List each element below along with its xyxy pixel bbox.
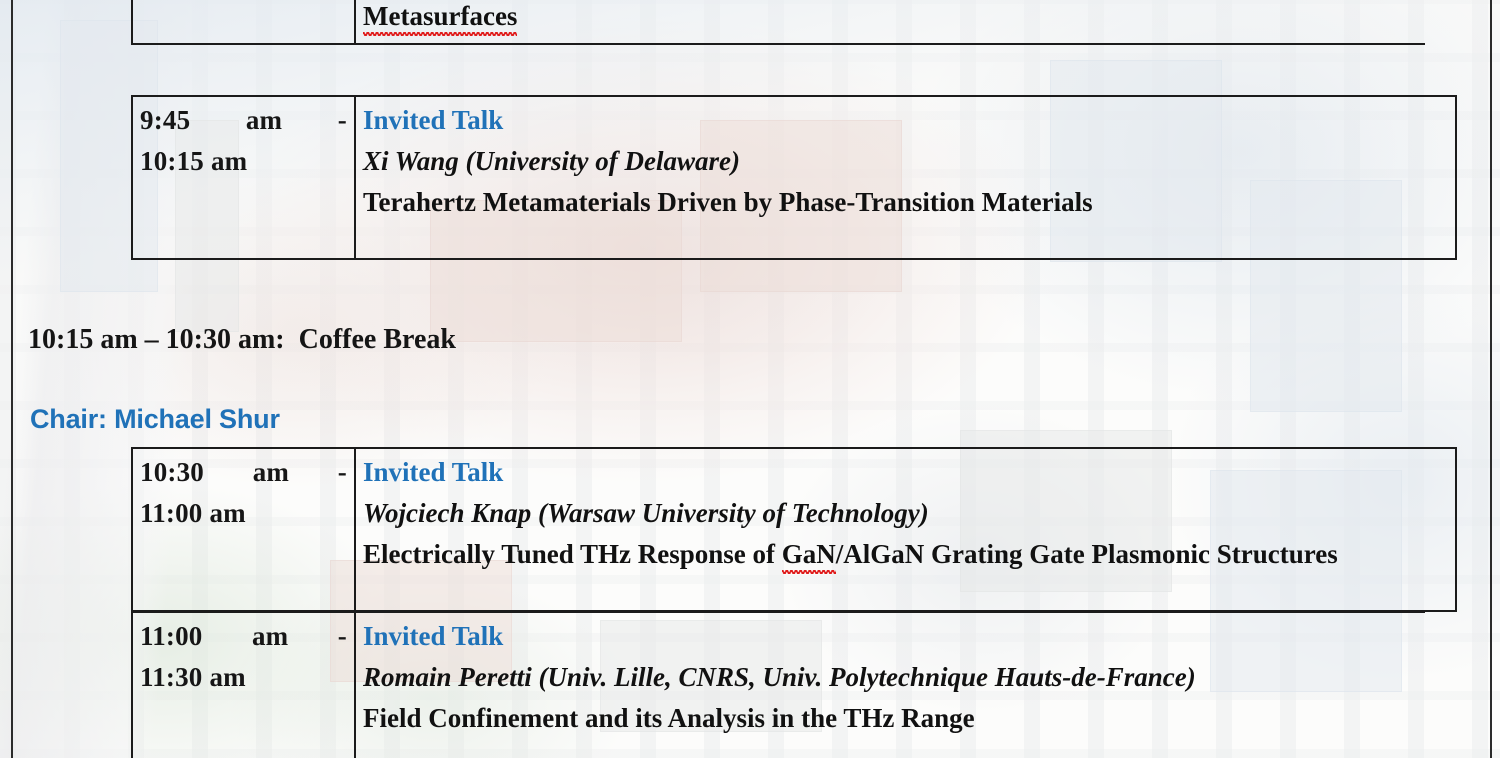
time-range-start-line: 9:45 am - bbox=[140, 100, 347, 141]
session-cell: Invited Talk Romain Peretti (Univ. Lille… bbox=[355, 612, 1425, 758]
talk-type-label: Invited Talk bbox=[363, 616, 1425, 657]
time-start-unit: am bbox=[253, 452, 289, 493]
talk-title: Electrically Tuned THz Response of GaN/A… bbox=[363, 534, 1448, 575]
time-end: 11:00 am bbox=[140, 493, 347, 534]
schedule-table-partial: Three-Dimensional Dielectric Spacer Stru… bbox=[131, 0, 1425, 45]
time-dash: - bbox=[338, 452, 347, 493]
time-end: 11:30 am bbox=[140, 657, 347, 698]
time-cell bbox=[132, 0, 355, 44]
time-range-start-line: 11:00 am - bbox=[140, 616, 347, 657]
time-dash: - bbox=[338, 100, 347, 141]
table-row: 11:00 am - 11:30 am Invited Talk Romain … bbox=[132, 612, 1425, 758]
speaker-name: Wojciech Knap (Warsaw University of Tech… bbox=[363, 493, 1448, 534]
time-cell: 10:30 am - 11:00 am bbox=[132, 448, 355, 611]
talk-type-label: Invited Talk bbox=[363, 100, 1448, 141]
time-dash: - bbox=[338, 616, 347, 657]
talk-type-label: Invited Talk bbox=[363, 452, 1448, 493]
time-end: 10:15 am bbox=[140, 141, 347, 182]
bottom-clipped-table-row: 11:00 am - 11:30 am Invited Talk Romain … bbox=[131, 611, 1425, 758]
time-start: 9:45 bbox=[140, 100, 190, 141]
table-row: Three-Dimensional Dielectric Spacer Stru… bbox=[132, 0, 1425, 44]
speaker-name: Xi Wang (University of Delaware) bbox=[363, 141, 1448, 182]
schedule-document: Three-Dimensional Dielectric Spacer Stru… bbox=[0, 0, 1500, 758]
session-cell: Invited Talk Wojciech Knap (Warsaw Unive… bbox=[355, 448, 1456, 611]
talk-title: Terahertz Metamaterials Driven by Phase-… bbox=[363, 182, 1448, 223]
time-start: 10:30 bbox=[140, 452, 204, 493]
schedule-table-2-continued: 11:00 am - 11:30 am Invited Talk Romain … bbox=[131, 611, 1425, 758]
spellcheck-underlined-word: Metasurfaces bbox=[363, 0, 517, 37]
spellcheck-underlined-word: GaN bbox=[782, 534, 836, 575]
time-start: 11:00 bbox=[140, 616, 203, 657]
time-cell: 11:00 am - 11:30 am bbox=[132, 612, 355, 758]
session-cell: Invited Talk Xi Wang (University of Dela… bbox=[355, 96, 1456, 259]
schedule-table-2: 10:30 am - 11:00 am Invited Talk Wojciec… bbox=[131, 447, 1457, 612]
document-page: Three-Dimensional Dielectric Spacer Stru… bbox=[0, 0, 1500, 758]
speaker-name: Romain Peretti (Univ. Lille, CNRS, Univ.… bbox=[363, 657, 1425, 698]
schedule-table-1: 9:45 am - 10:15 am Invited Talk Xi Wang … bbox=[131, 95, 1457, 260]
talk-title-post: /AlGaN Grating Gate Plasmonic Structures bbox=[836, 539, 1338, 569]
table-row: 10:30 am - 11:00 am Invited Talk Wojciec… bbox=[132, 448, 1456, 611]
time-start-unit: am bbox=[252, 616, 288, 657]
table-row: 9:45 am - 10:15 am Invited Talk Xi Wang … bbox=[132, 96, 1456, 259]
time-range-start-line: 10:30 am - bbox=[140, 452, 347, 493]
top-clipped-table-row: Three-Dimensional Dielectric Spacer Stru… bbox=[131, 0, 1425, 47]
talk-title-pre: Electrically Tuned THz Response of bbox=[363, 539, 782, 569]
time-cell: 9:45 am - 10:15 am bbox=[132, 96, 355, 259]
session-chair-line: Chair: Michael Shur bbox=[30, 403, 280, 435]
session-cell: Three-Dimensional Dielectric Spacer Stru… bbox=[355, 0, 1425, 44]
talk-title: Field Confinement and its Analysis in th… bbox=[363, 698, 1425, 739]
talk-title-line-2: Metasurfaces bbox=[363, 0, 1425, 37]
coffee-break-line: 10:15 am – 10:30 am: Coffee Break bbox=[28, 323, 456, 357]
time-start-unit: am bbox=[246, 100, 282, 141]
